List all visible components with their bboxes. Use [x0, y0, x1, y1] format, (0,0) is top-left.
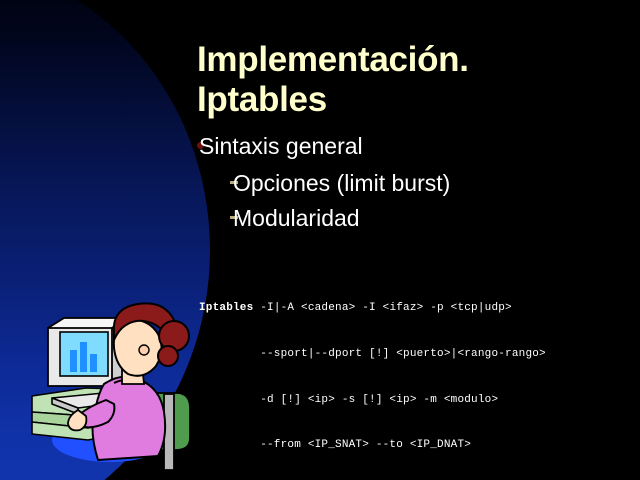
bullet-list: Sintaxis general Opciones (limit burst) … — [197, 133, 617, 240]
code-line: Iptables -I|-A <cadena> -I <ifaz> -p <tc… — [199, 301, 546, 316]
slide-title: Implementación. Iptables — [197, 40, 627, 120]
list-item-label: Sintaxis general — [199, 133, 363, 159]
slide-title-line-2: Iptables — [197, 80, 627, 120]
list-item: Opciones (limit burst) — [197, 170, 617, 197]
slide-title-line-1: Implementación. — [197, 40, 627, 80]
code-line-text: -I|-A <cadena> -I <ifaz> -p <tcp|udp> — [253, 302, 511, 314]
code-line: -d [!] <ip> -s [!] <ip> -m <modulo> — [199, 393, 546, 408]
code-line: --from <IP_SNAT> --to <IP_DNAT> — [199, 438, 546, 453]
list-item: Modularidad — [197, 205, 617, 232]
woman-at-computer-clipart — [18, 288, 203, 473]
list-item-label: Opciones (limit burst) — [233, 170, 450, 196]
presentation-slide: Implementación. Iptables Sintaxis genera… — [0, 0, 640, 480]
code-line: --sport|--dport [!] <puerto>|<rango-rang… — [199, 347, 546, 362]
list-item-label: Modularidad — [233, 205, 360, 231]
code-block: Iptables -I|-A <cadena> -I <ifaz> -p <tc… — [199, 271, 546, 480]
code-command: Iptables — [199, 302, 253, 314]
list-item: Sintaxis general — [197, 133, 617, 160]
